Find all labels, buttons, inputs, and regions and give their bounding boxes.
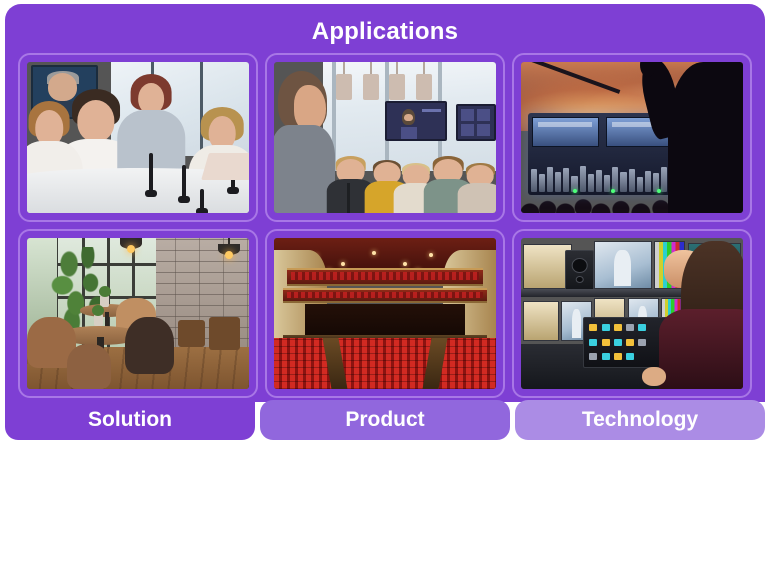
person-student (467, 165, 494, 213)
stalls-seating (274, 338, 496, 389)
chair-icon (125, 317, 174, 374)
tab-technology-label: Technology (582, 408, 698, 432)
chair-icon (178, 320, 205, 347)
monitor-icon (523, 301, 559, 340)
photo-broadcast-control-room (521, 238, 743, 389)
vase-icon (94, 314, 103, 326)
applications-panel: Applications (5, 4, 765, 402)
photo-theatre-auditorium (274, 238, 496, 389)
card-live-sound-console[interactable] (512, 53, 752, 222)
chair-icon (67, 344, 111, 389)
card-lecture-hall[interactable] (265, 53, 505, 222)
microphone-icon (200, 189, 204, 210)
tab-solution-label: Solution (88, 408, 172, 432)
microphone-icon (149, 153, 153, 192)
card-theatre-auditorium[interactable] (265, 229, 505, 398)
applications-card-grid (18, 53, 752, 398)
tab-product-label: Product (345, 408, 424, 432)
studio-speaker-icon (565, 250, 594, 292)
person-operator (659, 241, 743, 389)
person-sound-engineer (668, 62, 743, 213)
tab-product[interactable]: Product (260, 400, 510, 440)
photo-lecture-hall (274, 62, 496, 213)
photo-cafe-restaurant (27, 238, 249, 389)
video-conference-display-icon (456, 104, 496, 140)
category-tabs: Solution Product Technology (5, 400, 765, 440)
card-broadcast-control-room[interactable] (512, 229, 752, 398)
tab-technology[interactable]: Technology (515, 400, 765, 440)
tab-solution[interactable]: Solution (5, 400, 255, 440)
balcony-tier (283, 288, 487, 303)
microphone-icon (347, 183, 350, 213)
laptop-icon (201, 153, 249, 180)
page-title: Applications (5, 18, 765, 46)
chair-icon (209, 317, 240, 350)
monitor-icon (594, 241, 652, 289)
video-conference-display-icon (385, 101, 447, 140)
person-student (336, 159, 365, 213)
device-mockup-group: Online (0, 450, 770, 580)
slide-root: Applications (0, 0, 770, 580)
stage-area (305, 304, 465, 337)
microphone-icon (182, 165, 186, 198)
photo-conference-meeting (27, 62, 249, 213)
card-cafe-restaurant[interactable] (18, 229, 258, 398)
balcony-tier (287, 268, 482, 286)
card-conference-meeting[interactable] (18, 53, 258, 222)
photo-live-sound-console (521, 62, 743, 213)
